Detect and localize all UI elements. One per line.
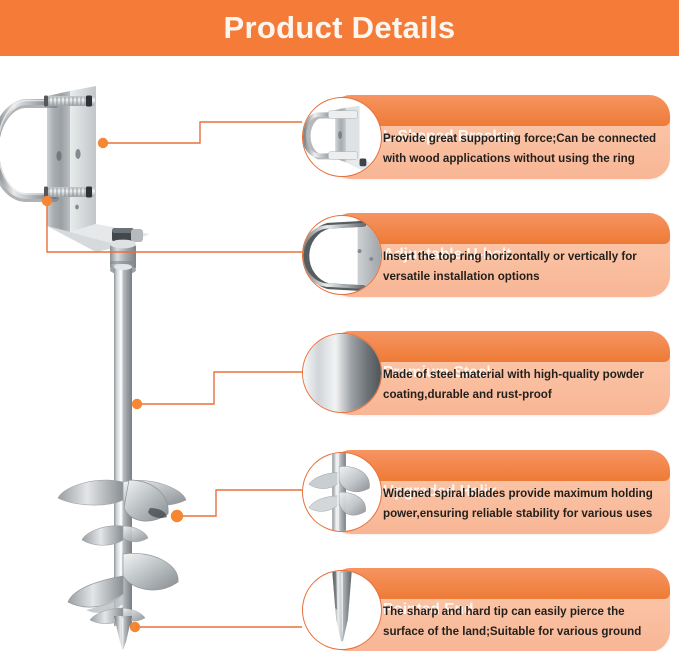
- feature-description-line: Made of steel material with high-quality…: [383, 365, 663, 385]
- feature-card-upgraded-helix[interactable]: Upgraded Helix Widened spiral blades pro…: [330, 450, 670, 534]
- tip-thumb-icon: [302, 570, 382, 650]
- l-shaped-bracket-part: [47, 86, 150, 252]
- feature-card-pointed-end[interactable]: Pointed End The sharp and hard tip can e…: [330, 568, 670, 651]
- feature-card-premium-steel[interactable]: Premium Steel Made of steel material wit…: [330, 331, 670, 415]
- feature-card-header: [330, 331, 670, 362]
- feature-description-line: power,ensuring reliable stability for va…: [383, 504, 663, 524]
- feature-description-line: versatile installation options: [383, 267, 663, 287]
- feature-description: The sharp and hard tip can easily pierce…: [383, 602, 663, 642]
- feature-card-adjustable-u-bolt[interactable]: Adjustable U-bolt Insert the top ring ho…: [330, 213, 670, 297]
- feature-description: Made of steel material with high-quality…: [383, 365, 663, 405]
- feature-description-line: Widened spiral blades provide maximum ho…: [383, 484, 663, 504]
- header-banner: Product Details: [0, 0, 679, 56]
- bracket-thumb-icon: [302, 97, 382, 177]
- feature-description: Insert the top ring horizontally or vert…: [383, 247, 663, 287]
- u-bolt-part: [0, 101, 55, 199]
- feature-card-header: [330, 213, 670, 244]
- feature-description-line: Provide great supporting force;Can be co…: [383, 129, 663, 149]
- feature-card-header: [330, 95, 670, 126]
- feature-description-line: with wood applications without using the…: [383, 149, 663, 169]
- feature-description-line: coating,durable and rust-proof: [383, 385, 663, 405]
- feature-description: Widened spiral blades provide maximum ho…: [383, 484, 663, 524]
- feature-description-line: The sharp and hard tip can easily pierce…: [383, 602, 663, 622]
- page-title: Product Details: [224, 10, 456, 46]
- feature-card-header: [330, 450, 670, 481]
- feature-description-line: surface of the land;Suitable for various…: [383, 622, 663, 642]
- feature-card-l-shaped-bracket[interactable]: L-Shaped Bracket Provide great supportin…: [330, 95, 670, 179]
- steel-thumb-icon: [302, 333, 382, 413]
- product-illustration: [0, 56, 300, 651]
- pointed-tip-part: [114, 616, 132, 650]
- feature-card-header: [330, 568, 670, 599]
- feature-description: Provide great supporting force;Can be co…: [383, 129, 663, 169]
- product-details-infographic: Product Details: [0, 0, 679, 651]
- feature-description-line: Insert the top ring horizontally or vert…: [383, 247, 663, 267]
- ubolt-thumb-icon: [302, 215, 382, 295]
- helix-thumb-icon: [302, 452, 382, 532]
